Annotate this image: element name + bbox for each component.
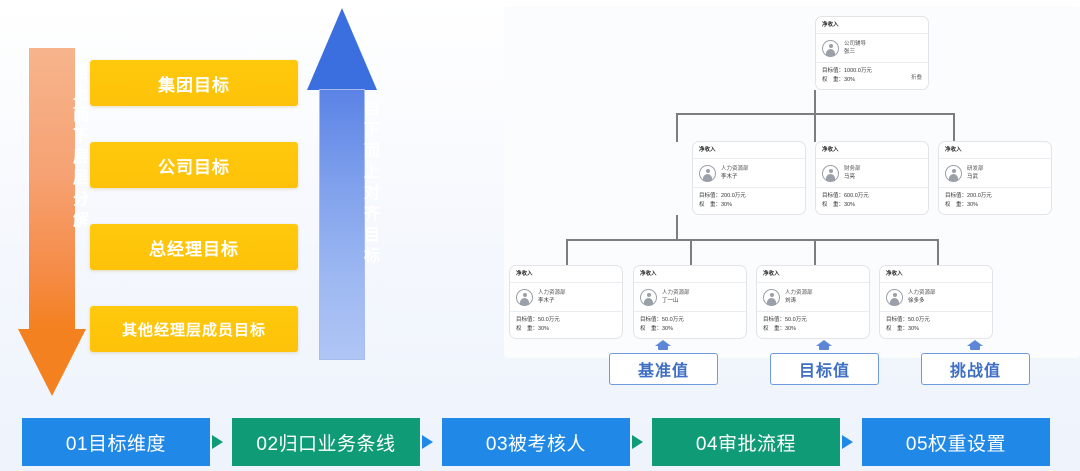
- node-metrics: 目标值：200.0万元 权 重：30%: [693, 188, 805, 210]
- connector: [814, 90, 816, 114]
- node-person-row: 人力资源部 丁一山: [634, 283, 746, 312]
- top-down-arrow: 自上而下层层分解: [18, 48, 86, 396]
- pointer-up-icon-challenge: [967, 340, 983, 350]
- avatar-icon: [886, 289, 903, 306]
- avatar-icon: [516, 289, 533, 306]
- diagram-canvas: 自上而下层层分解 集团目标 公司目标 总经理目标 其他经理层成员目标 自下而上对…: [0, 0, 1080, 471]
- connector: [953, 113, 955, 142]
- process-step-05[interactable]: 05权重设置: [862, 418, 1050, 466]
- node-name: 马武: [967, 174, 978, 180]
- node-weight: 权 重：30%: [763, 325, 863, 334]
- node-metrics: 目标值：50.0万元 权 重：30%: [880, 312, 992, 334]
- node-name: 徐多多: [908, 298, 925, 304]
- node-person-row: 人力资源部 刘涛: [757, 283, 869, 312]
- avatar-icon: [822, 40, 839, 57]
- node-target: 目标值：200.0万元: [699, 192, 799, 201]
- node-target: 目标值：600.0万元: [822, 192, 922, 201]
- node-dept: 研发部: [967, 165, 984, 173]
- value-tag-challenge[interactable]: 挑战值: [921, 353, 1030, 385]
- org-node-root[interactable]: 净收入 公司辅导 张三 目标值：1000.0万元 权 重：30% 折叠: [815, 16, 929, 90]
- node-person: 人力资源部 刘涛: [785, 289, 813, 306]
- node-metrics: 目标值：50.0万元 权 重：30%: [510, 312, 622, 334]
- node-person-row: 财务部 马亮: [816, 159, 928, 188]
- node-weight: 权 重：30%: [699, 201, 799, 210]
- org-node-l2-rnd[interactable]: 净收入 研发部 马武 目标值：200.0万元 权 重：30%: [938, 141, 1052, 215]
- up-arrow-label: 自下而上对齐目标: [307, 100, 377, 268]
- avatar-icon: [763, 289, 780, 306]
- goal-box-company[interactable]: 公司目标: [90, 142, 298, 188]
- node-weight: 权 重：30%: [516, 325, 616, 334]
- node-metrics: 目标值：600.0万元 权 重：30%: [816, 188, 928, 210]
- node-dept: 人力资源部: [785, 289, 813, 297]
- connector: [690, 239, 692, 266]
- node-metrics: 目标值：1000.0万元 权 重：30% 折叠: [816, 63, 928, 85]
- down-arrow-label: 自上而下层层分解: [18, 64, 86, 232]
- node-weight: 权 重：30%: [640, 325, 740, 334]
- node-name: 刘涛: [785, 298, 796, 304]
- node-weight: 权 重：30%: [822, 76, 922, 85]
- pointer-up-icon-baseline: [655, 340, 671, 350]
- node-metric: 净收入: [816, 142, 928, 159]
- node-metric: 净收入: [880, 266, 992, 283]
- connector: [676, 113, 678, 142]
- process-step-03[interactable]: 03被考核人: [442, 418, 630, 466]
- node-name: 张三: [844, 49, 855, 55]
- process-step-04[interactable]: 04审批流程: [652, 418, 840, 466]
- org-node-l3-1[interactable]: 净收入 人力资源部 李木子 目标值：50.0万元 权 重：30%: [509, 265, 623, 339]
- org-chart-panel: 净收入 公司辅导 张三 目标值：1000.0万元 权 重：30% 折叠 净收入 …: [504, 6, 1080, 358]
- node-person-row: 人力资源部 李木子: [693, 159, 805, 188]
- node-name: 马亮: [844, 174, 855, 180]
- connector: [937, 239, 939, 266]
- node-name: 丁一山: [662, 298, 679, 304]
- org-node-l3-2[interactable]: 净收入 人力资源部 丁一山 目标值：50.0万元 权 重：30%: [633, 265, 747, 339]
- node-target: 目标值：50.0万元: [886, 316, 986, 325]
- node-person: 研发部 马武: [967, 165, 984, 182]
- node-dept: 人力资源部: [538, 289, 566, 297]
- node-weight: 权 重：30%: [886, 325, 986, 334]
- avatar-icon: [822, 165, 839, 182]
- node-metric: 净收入: [816, 17, 928, 34]
- node-dept: 财务部: [844, 165, 861, 173]
- value-tag-target[interactable]: 目标值: [770, 353, 879, 385]
- node-dept: 公司辅导: [844, 40, 866, 48]
- goal-box-managers[interactable]: 其他经理层成员目标: [90, 306, 298, 352]
- node-metrics: 目标值：50.0万元 权 重：30%: [634, 312, 746, 334]
- arrow-right-icon-1: [212, 435, 223, 449]
- node-metric: 净收入: [634, 266, 746, 283]
- collapse-button[interactable]: 折叠: [911, 73, 922, 81]
- node-dept: 人力资源部: [908, 289, 936, 297]
- org-node-l2-hr[interactable]: 净收入 人力资源部 李木子 目标值：200.0万元 权 重：30%: [692, 141, 806, 215]
- node-target: 目标值：200.0万元: [945, 192, 1045, 201]
- avatar-icon: [699, 165, 716, 182]
- org-node-l3-3[interactable]: 净收入 人力资源部 刘涛 目标值：50.0万元 权 重：30%: [756, 265, 870, 339]
- node-dept: 人力资源部: [662, 289, 690, 297]
- node-metrics: 目标值：200.0万元 权 重：30%: [939, 188, 1051, 210]
- node-target: 目标值：50.0万元: [640, 316, 740, 325]
- avatar-icon: [945, 165, 962, 182]
- connector: [676, 215, 678, 240]
- connector: [566, 239, 568, 266]
- node-metrics: 目标值：50.0万元 权 重：30%: [757, 312, 869, 334]
- node-person-row: 人力资源部 李木子: [510, 283, 622, 312]
- node-person-row: 人力资源部 徐多多: [880, 283, 992, 312]
- node-metric: 净收入: [757, 266, 869, 283]
- avatar-icon: [640, 289, 657, 306]
- process-step-01[interactable]: 01目标维度: [22, 418, 210, 466]
- node-dept: 人力资源部: [721, 165, 749, 173]
- org-node-l3-4[interactable]: 净收入 人力资源部 徐多多 目标值：50.0万元 权 重：30%: [879, 265, 993, 339]
- node-person: 公司辅导 张三: [844, 40, 866, 57]
- arrow-right-icon-2: [422, 435, 433, 449]
- process-step-02[interactable]: 02归口业务条线: [232, 418, 420, 466]
- node-target: 目标值：50.0万元: [763, 316, 863, 325]
- org-node-l2-finance[interactable]: 净收入 财务部 马亮 目标值：600.0万元 权 重：30%: [815, 141, 929, 215]
- arrow-right-icon-4: [842, 435, 853, 449]
- value-tag-baseline[interactable]: 基准值: [609, 353, 718, 385]
- connector: [566, 239, 938, 241]
- node-target: 目标值：1000.0万元: [822, 67, 922, 76]
- up-arrow-head: [307, 8, 377, 90]
- node-person: 人力资源部 徐多多: [908, 289, 936, 306]
- node-person: 人力资源部 李木子: [721, 165, 749, 182]
- node-person-row: 研发部 马武: [939, 159, 1051, 188]
- node-name: 李木子: [538, 298, 555, 304]
- goal-box-group[interactable]: 集团目标: [90, 60, 298, 106]
- node-target: 目标值：50.0万元: [516, 316, 616, 325]
- node-weight: 权 重：30%: [945, 201, 1045, 210]
- connector: [814, 239, 816, 266]
- node-metric: 净收入: [693, 142, 805, 159]
- node-person: 财务部 马亮: [844, 165, 861, 182]
- node-person: 人力资源部 丁一山: [662, 289, 690, 306]
- node-weight: 权 重：30%: [822, 201, 922, 210]
- pointer-up-icon-target: [816, 340, 832, 350]
- arrow-right-icon-3: [632, 435, 643, 449]
- node-name: 李木子: [721, 174, 738, 180]
- down-arrow-head: [18, 329, 86, 396]
- goal-box-gm[interactable]: 总经理目标: [90, 224, 298, 270]
- node-metric: 净收入: [510, 266, 622, 283]
- bottom-up-arrow: 自下而上对齐目标: [307, 8, 377, 360]
- process-step-bar: 01目标维度 02归口业务条线 03被考核人 04审批流程 05权重设置: [0, 418, 1080, 466]
- node-person: 人力资源部 李木子: [538, 289, 566, 306]
- connector: [814, 113, 816, 142]
- node-metric: 净收入: [939, 142, 1051, 159]
- node-person-row: 公司辅导 张三: [816, 34, 928, 63]
